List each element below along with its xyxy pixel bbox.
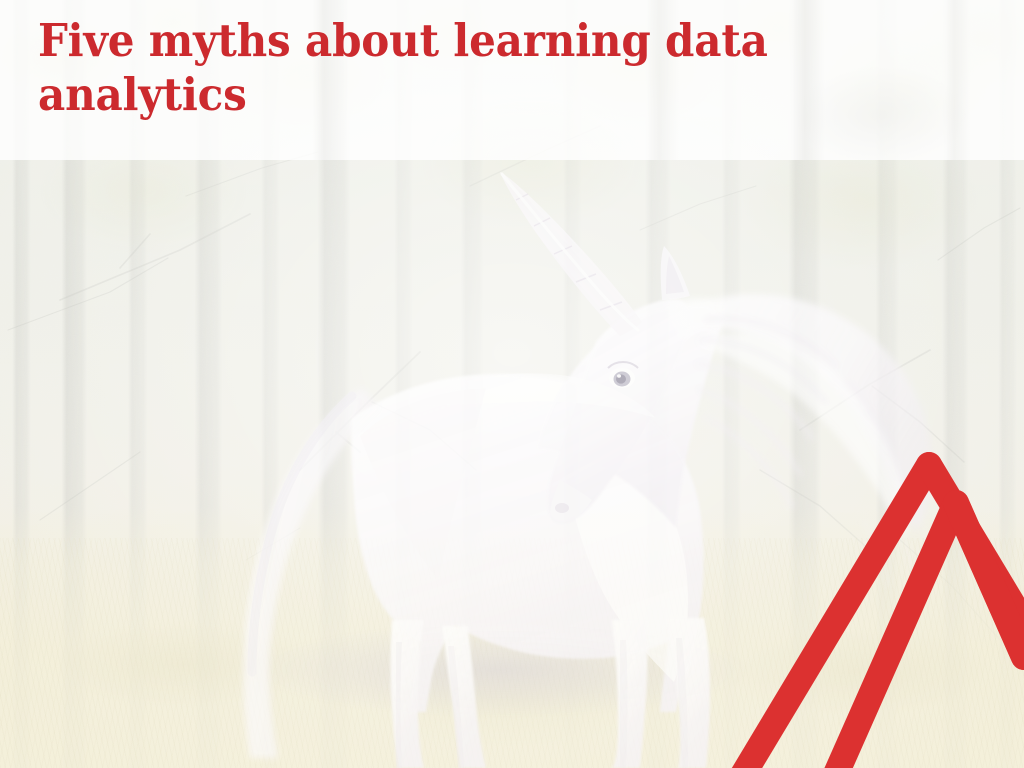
header-band: Five myths about learning data analytics [0, 0, 1024, 160]
slide: Five myths about learning data analytics [0, 0, 1024, 768]
unicorn-illustration [0, 150, 1024, 768]
page-title: Five myths about learning data analytics [38, 14, 880, 122]
